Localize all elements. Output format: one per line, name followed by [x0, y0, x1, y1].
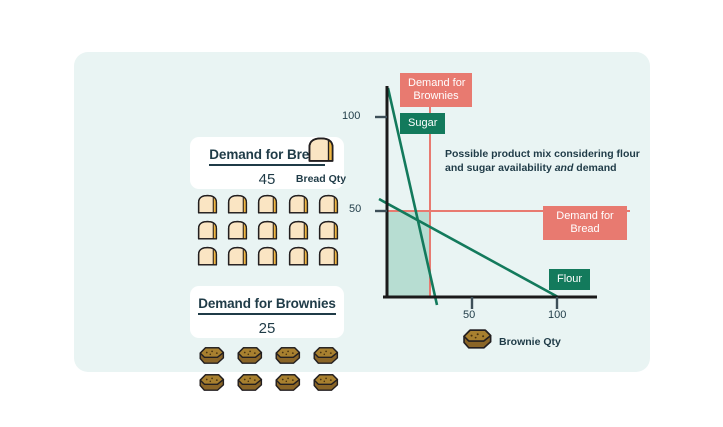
note-line2-pre: and sugar availability: [445, 162, 555, 174]
demand-for-bread-tag-line1: Demand for: [556, 210, 613, 222]
brownie-icon: [462, 328, 492, 350]
bread-qty-label: Bread Qty: [288, 173, 354, 185]
note-line2-post: demand: [573, 162, 616, 174]
brownie-icon: [462, 328, 492, 355]
demand-for-bread-tag-line2: Bread: [570, 223, 599, 235]
bread-qty-axis-icon: Bread Qty: [288, 136, 354, 185]
x-axis-tick-label-100: 100: [548, 309, 566, 321]
x-axis-tick-label-50: 50: [463, 309, 475, 321]
demand-for-brownies-tag: Demand for Brownies: [400, 73, 472, 107]
note-line2-emphasis: and: [555, 162, 574, 174]
y-axis-tick-label-100: 100: [342, 110, 360, 122]
brownie-qty-axis-icon: Brownie Qty: [462, 328, 561, 355]
demand-for-brownies-tag-line2: Brownies: [413, 90, 458, 102]
product-mix-note: Possible product mix considering flour a…: [445, 147, 645, 175]
note-line1: Possible product mix considering flour: [445, 148, 640, 160]
bread-icon: [288, 136, 354, 169]
y-axis-tick-label-50: 50: [349, 203, 361, 215]
brownie-qty-label: Brownie Qty: [499, 336, 561, 348]
flour-tag: Flour: [549, 269, 590, 290]
sugar-tag: Sugar: [400, 113, 445, 134]
demand-for-bread-tag: Demand for Bread: [543, 206, 627, 240]
bread-icon: [306, 136, 336, 164]
demand-for-brownies-tag-line1: Demand for: [408, 77, 465, 89]
